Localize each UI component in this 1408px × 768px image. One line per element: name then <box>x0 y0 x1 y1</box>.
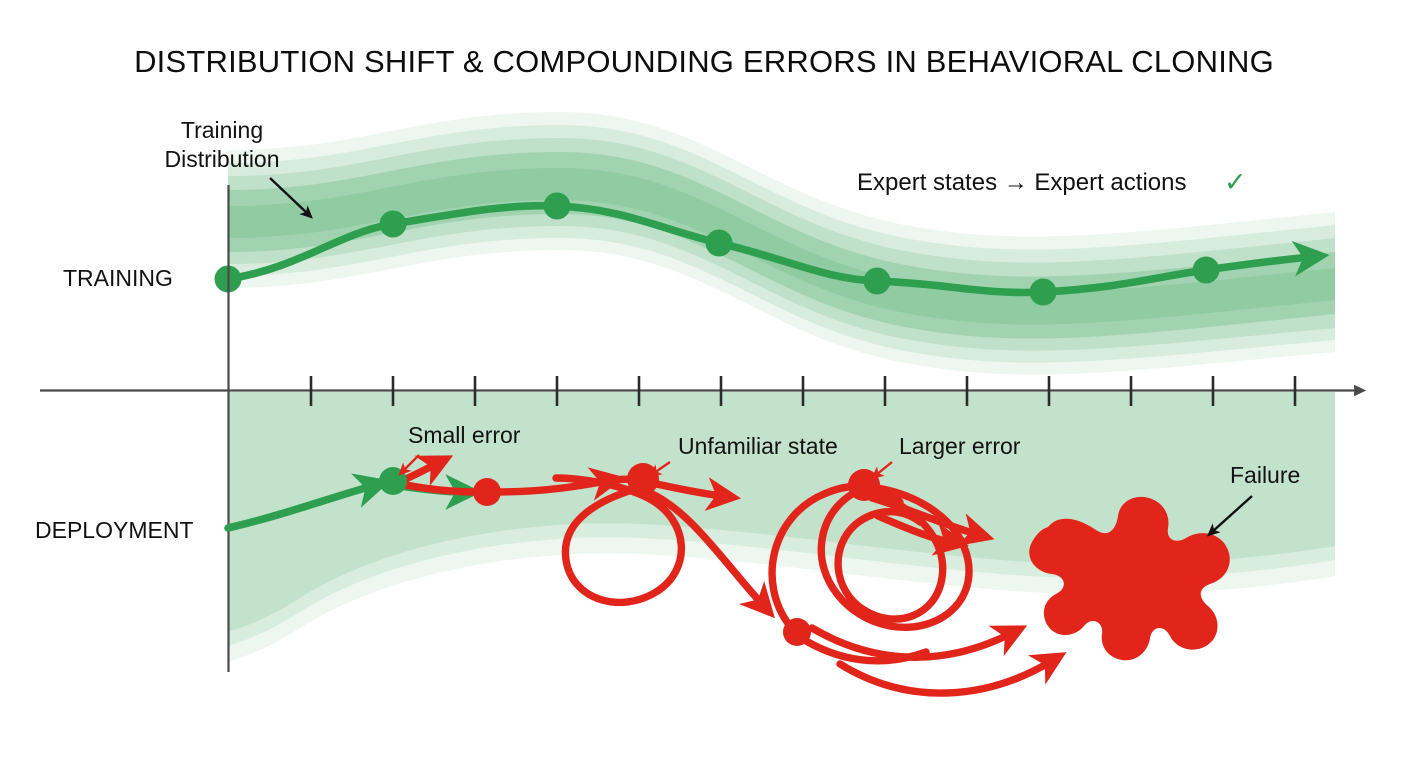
distribution-shift-diagram: DISTRIBUTION SHIFT & COMPOUNDING ERRORS … <box>0 0 1408 768</box>
row-label-training: TRAINING <box>63 265 173 291</box>
check-icon: ✓ <box>1224 167 1247 197</box>
annotation-larger-error: Larger error <box>899 433 1021 459</box>
training-distribution-band <box>228 112 1335 375</box>
annotation-unfamiliar-state: Unfamiliar state <box>678 433 838 459</box>
expert-state-dot <box>1030 279 1057 306</box>
diagram-canvas: DISTRIBUTION SHIFT & COMPOUNDING ERRORS … <box>0 0 1408 768</box>
policy-state-dot <box>783 618 811 646</box>
policy-state-dot <box>473 478 501 506</box>
training-distribution-label-line2: Distribution <box>164 146 279 172</box>
divergence-expert-dot <box>379 467 407 495</box>
expert-state-dot <box>1193 257 1220 284</box>
row-label-deployment: DEPLOYMENT <box>35 517 193 543</box>
expert-state-dot <box>380 211 407 238</box>
annotation-failure: Failure <box>1230 462 1300 488</box>
training-distribution-label-line1: Training <box>181 117 263 143</box>
annotation-small-error: Small error <box>408 422 521 448</box>
expert-state-dot <box>864 268 891 295</box>
expert-state-dot <box>706 230 733 257</box>
expert-state-dot <box>544 193 571 220</box>
legend-expert-mapping: Expert states → Expert actions <box>857 169 1186 196</box>
policy-state-dot-unfamiliar <box>627 463 659 495</box>
page-title: DISTRIBUTION SHIFT & COMPOUNDING ERRORS … <box>134 44 1274 79</box>
policy-state-dot-larger-error <box>848 469 880 501</box>
